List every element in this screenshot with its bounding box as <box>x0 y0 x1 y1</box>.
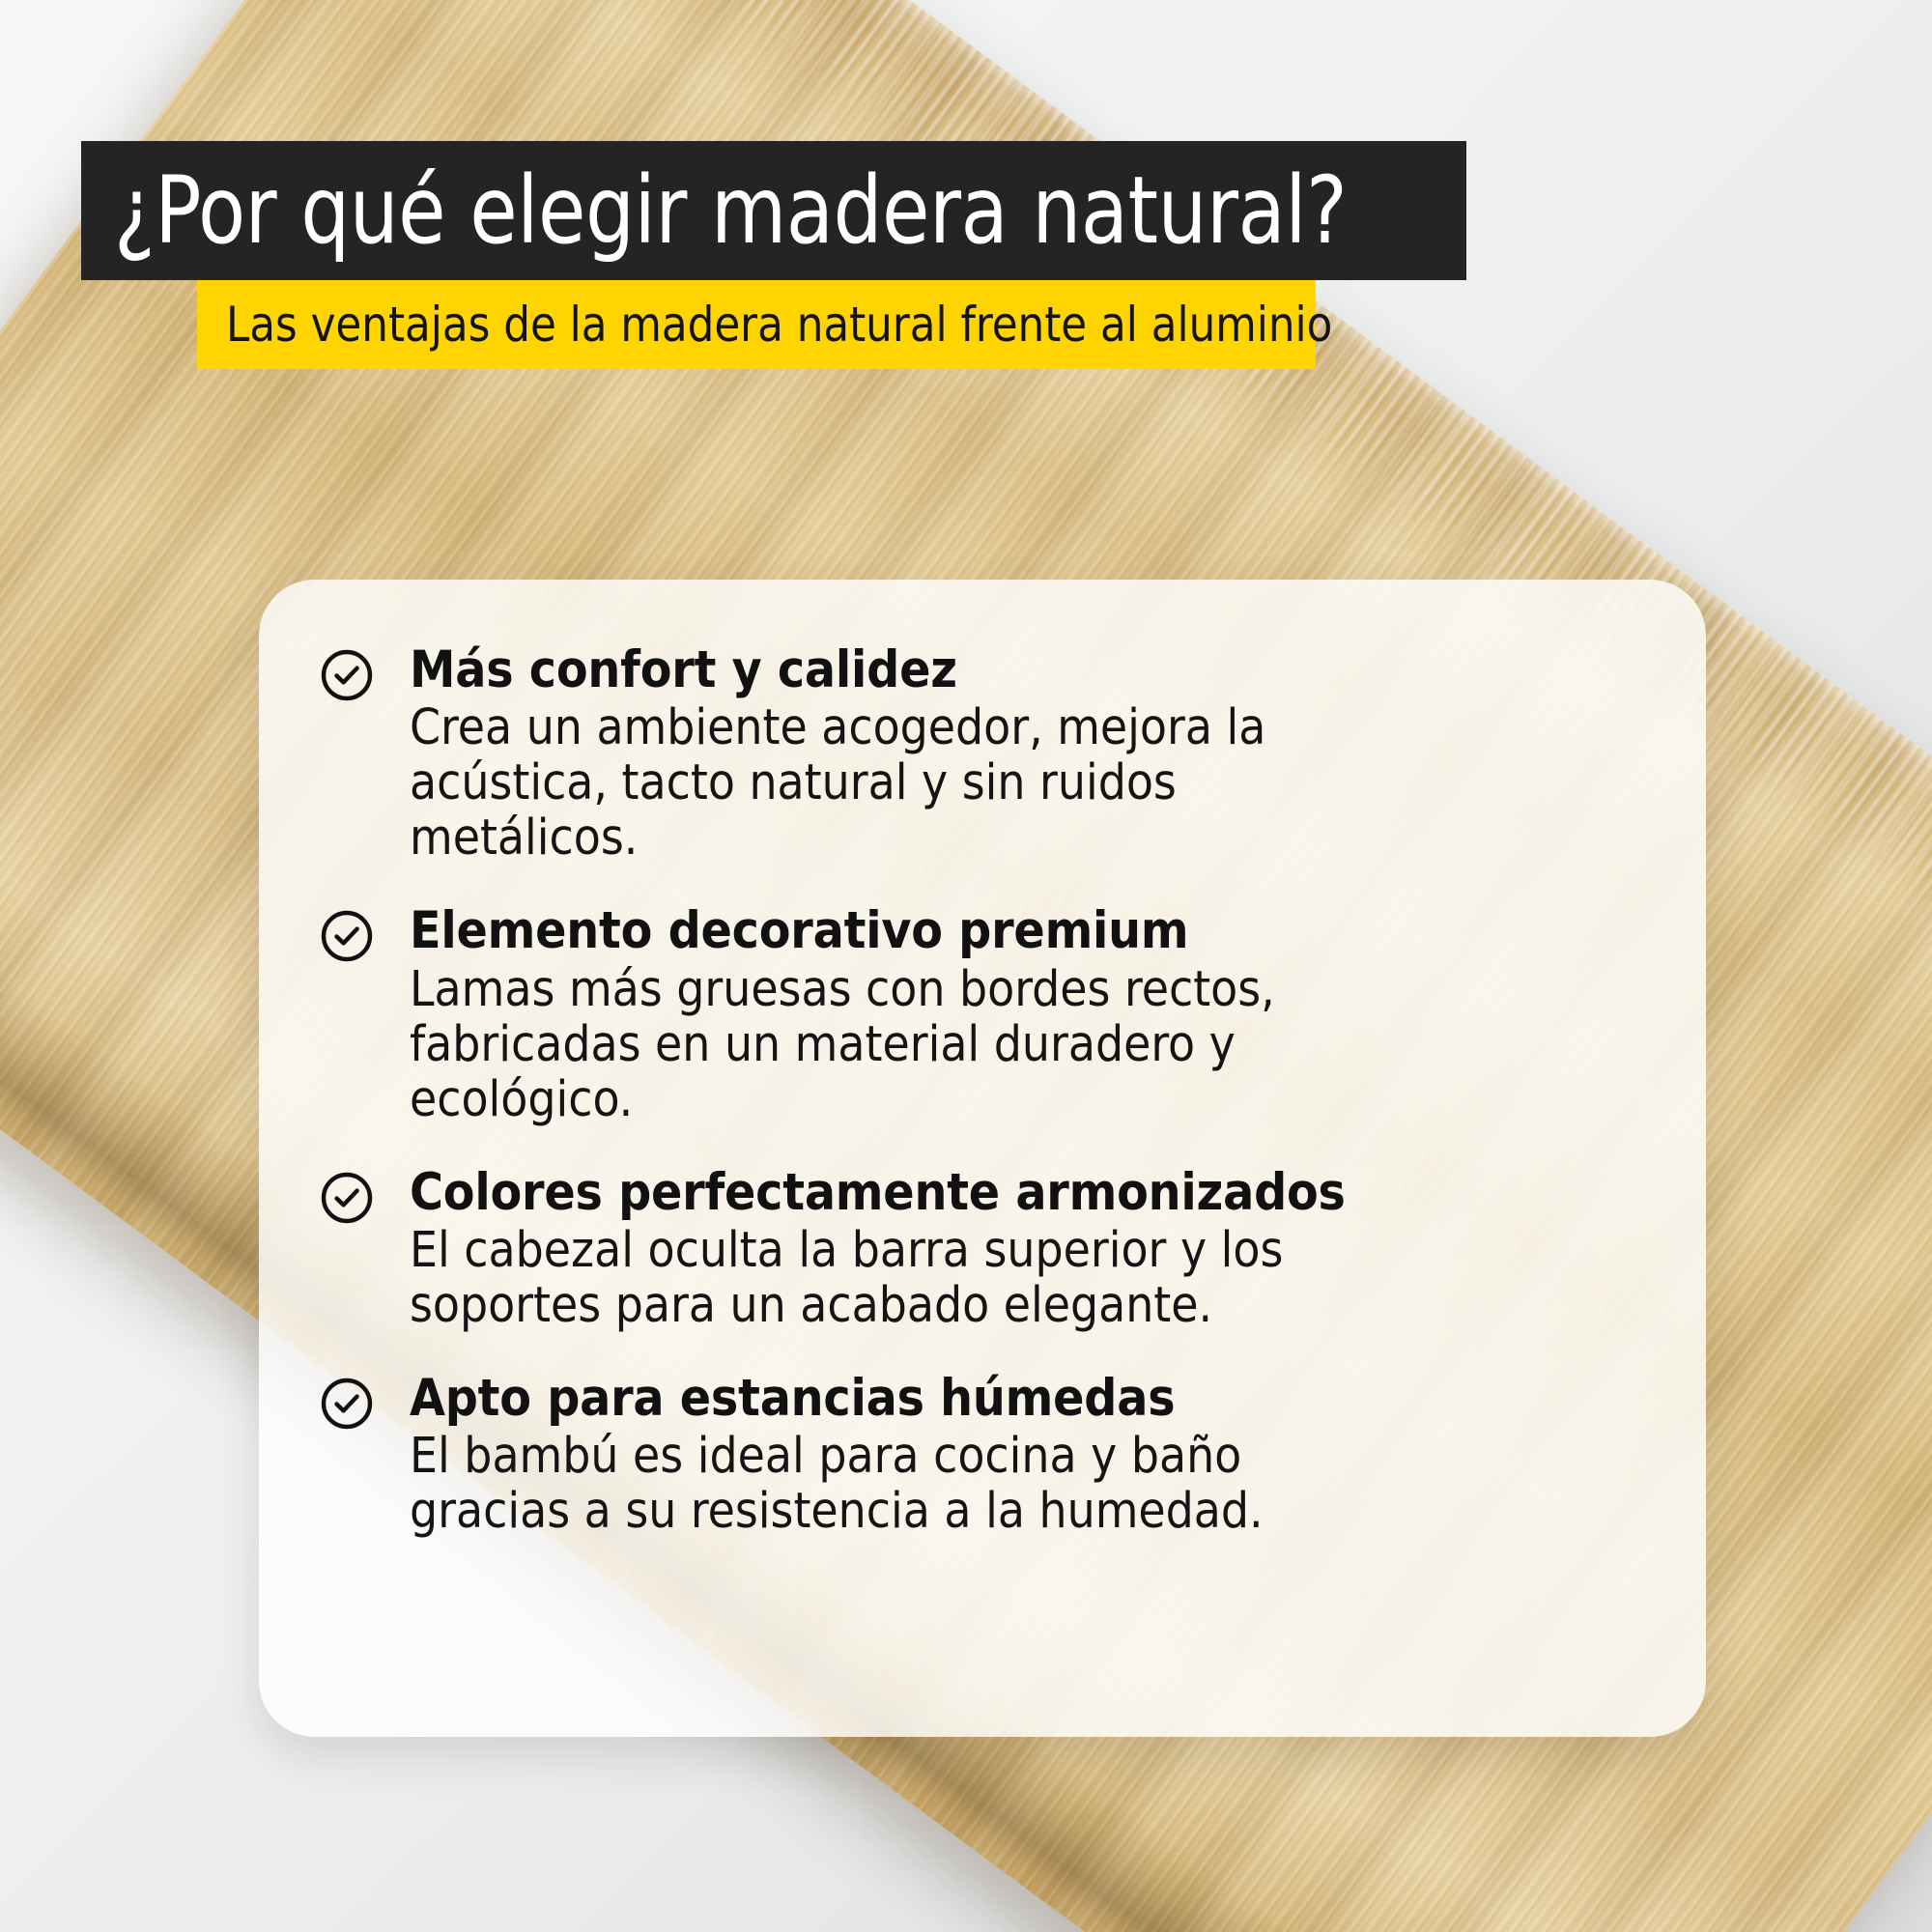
list-item-title: Colores perfectamente armonizados <box>410 1166 1648 1219</box>
page-subtitle: Las ventajas de la madera natural frente… <box>226 300 1332 349</box>
list-item-title: Apto para estancias húmedas <box>410 1372 1648 1425</box>
list-item: Colores perfectamente armonizados El cab… <box>319 1166 1648 1333</box>
list-item: Apto para estancias húmedas El bambú es … <box>319 1372 1648 1539</box>
list-item-description: El cabezal oculta la barra superior y lo… <box>410 1223 1414 1333</box>
list-item: Elemento decorativo premium Lamas más gr… <box>319 904 1648 1126</box>
check-circle-icon <box>319 1376 375 1432</box>
list-item-description: Crea un ambiente acogedor, mejora la acú… <box>410 700 1414 866</box>
list-item-description: El bambú es ideal para cocina y baño gra… <box>410 1429 1414 1539</box>
infographic-canvas: ¿Por qué elegir madera natural? Las vent… <box>0 0 1932 1932</box>
list-item-title: Más confort y calidez <box>410 643 1648 696</box>
list-item-description: Lamas más gruesas con bordes rectos, fab… <box>410 962 1414 1127</box>
list-item-title: Elemento decorativo premium <box>410 904 1648 957</box>
check-circle-icon <box>319 908 375 964</box>
benefits-card: Más confort y calidez Crea un ambiente a… <box>259 580 1706 1737</box>
check-circle-icon <box>319 647 375 703</box>
list-item: Más confort y calidez Crea un ambiente a… <box>319 643 1648 866</box>
page-title: ¿Por qué elegir madera natural? <box>114 164 1347 257</box>
title-banner: ¿Por qué elegir madera natural? <box>81 141 1466 280</box>
benefits-list: Más confort y calidez Crea un ambiente a… <box>319 643 1648 1540</box>
subtitle-banner: Las ventajas de la madera natural frente… <box>197 280 1316 369</box>
check-circle-icon <box>319 1170 375 1226</box>
